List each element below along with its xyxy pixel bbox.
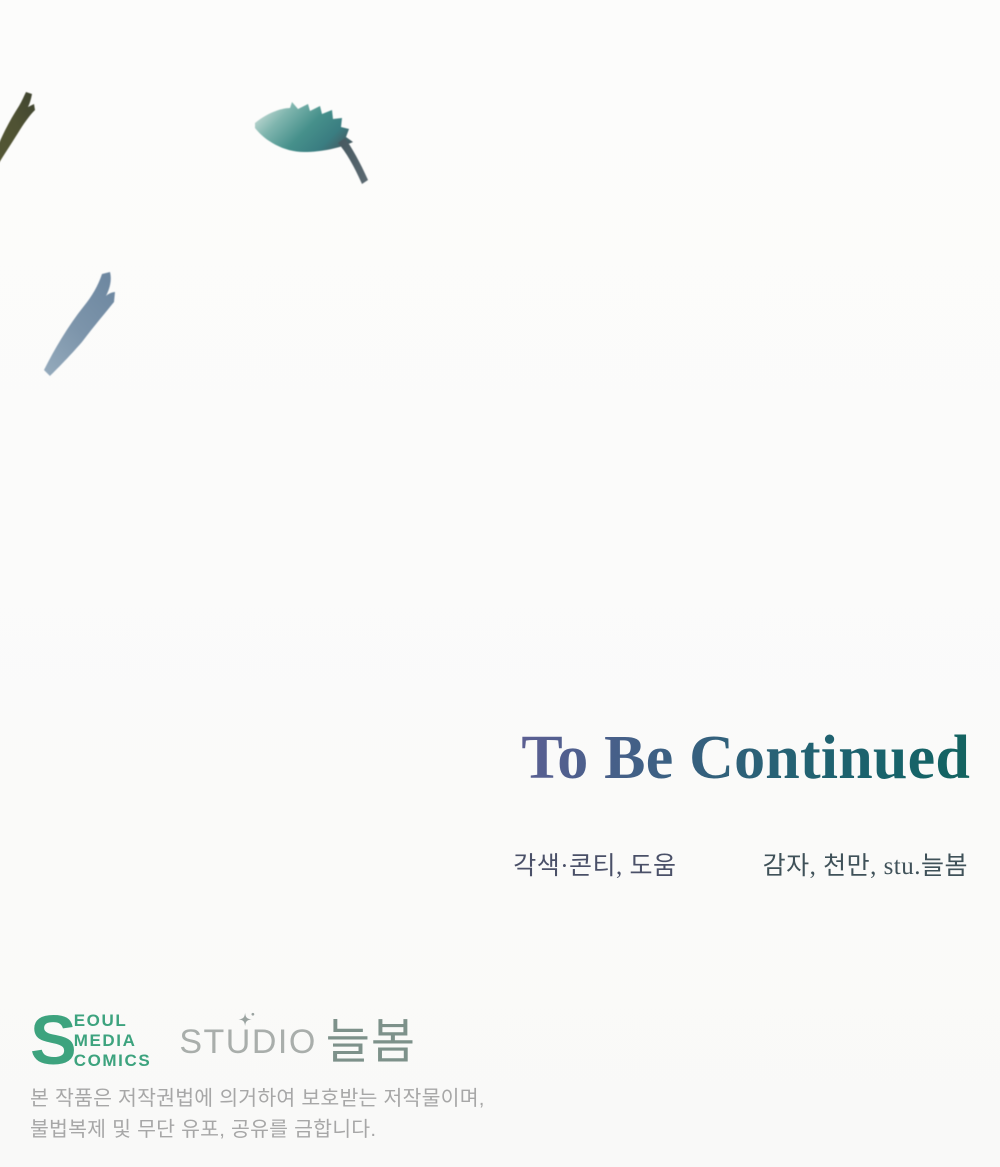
studio-neulbom-logo: STUDIO 늘봄 (171, 1009, 416, 1071)
smc-monogram-s: S (30, 1015, 75, 1067)
smc-line-media: MEDIA (74, 1031, 152, 1051)
smc-line-seoul: EOUL (74, 1011, 152, 1031)
decoration-layer (0, 0, 1000, 1167)
olive-stem-leaf-icon (0, 88, 40, 174)
smc-wordmark: EOUL MEDIA COMICS (74, 1011, 152, 1071)
credit-role-label: 각색·콘티, 도움 (513, 846, 676, 882)
copyright-notice: 본 작품은 저작권법에 의거하여 보호받는 저작물이며, 불법복제 및 무단 유… (30, 1084, 970, 1145)
copyright-line-1: 본 작품은 저작권법에 의거하여 보호받는 저작물이며, (30, 1084, 970, 1114)
sparkle-star-icon (235, 1011, 257, 1033)
episode-end-card: To Be Continued 각색·콘티, 도움 감자, 천만, stu.늘봄… (0, 0, 1000, 1167)
title-block: To Be Continued (0, 726, 1000, 791)
neulbom-brand: 늘봄 (326, 1019, 416, 1067)
publisher-logo-row: S EOUL MEDIA COMICS STUDIO 늘봄 (30, 1007, 970, 1071)
blue-gray-leaf-icon (36, 264, 128, 376)
seoul-media-comics-logo: S EOUL MEDIA COMICS (30, 1009, 153, 1071)
footer: S EOUL MEDIA COMICS STUDIO 늘봄 본 작품은 저작권법… (30, 1007, 970, 1145)
to-be-continued-title: To Be Continued (521, 726, 970, 791)
credits-row: 각색·콘티, 도움 감자, 천만, stu.늘봄 (0, 846, 1000, 882)
copyright-line-2: 불법복제 및 무단 유포, 공유를 금합니다. (30, 1115, 970, 1145)
teal-ginkgo-leaf-icon (252, 96, 384, 198)
smc-line-comics: COMICS (74, 1051, 152, 1071)
credit-names: 감자, 천만, stu.늘봄 (763, 846, 968, 882)
